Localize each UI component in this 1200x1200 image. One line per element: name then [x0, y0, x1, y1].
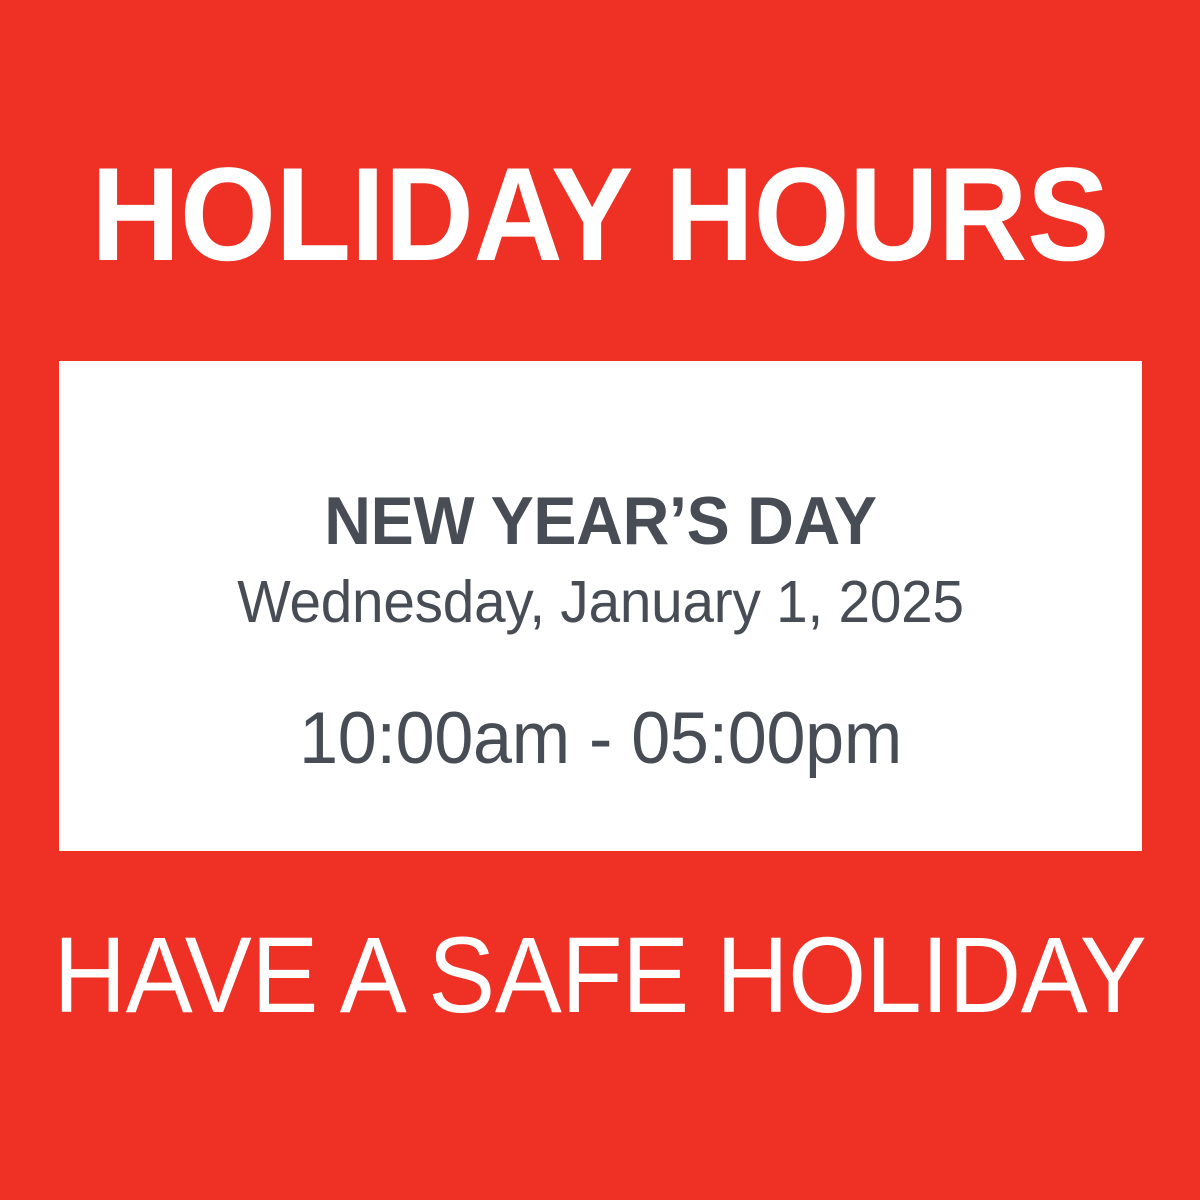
- holiday-hours-range: 10:00am - 05:00pm: [81, 702, 1121, 775]
- footer-message: HAVE A SAFE HOLIDAY: [42, 915, 1158, 1035]
- holiday-name: NEW YEAR’S DAY: [86, 487, 1115, 555]
- holiday-info-card-content: NEW YEAR’S DAY Wednesday, January 1, 202…: [59, 361, 1142, 851]
- holiday-info-card: NEW YEAR’S DAY Wednesday, January 1, 202…: [59, 361, 1142, 851]
- holiday-date: Wednesday, January 1, 2025: [81, 573, 1121, 632]
- holiday-hours-poster: HOLIDAY HOURS NEW YEAR’S DAY Wednesday, …: [0, 0, 1200, 1200]
- page-title: HOLIDAY HOURS: [42, 140, 1158, 290]
